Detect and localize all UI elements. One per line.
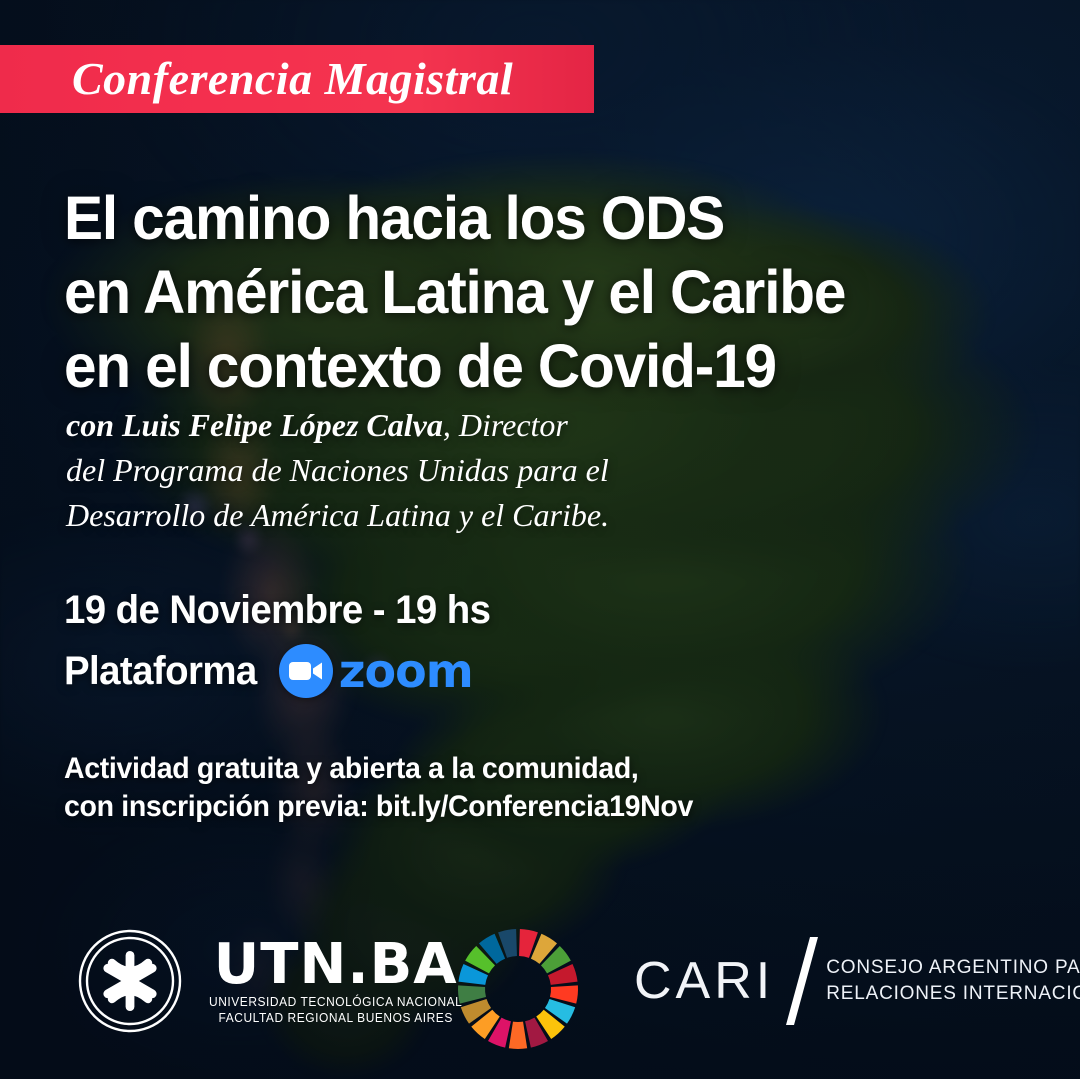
cari-subtitle-line-1: CONSEJO ARGENTINO PARA LAS: [826, 955, 1080, 981]
sdg-segment: [509, 1022, 527, 1049]
sdg-color-wheel-icon: [456, 927, 580, 1051]
platform-row: Plataforma zoom: [64, 644, 473, 698]
poster-content: Conferencia Magistral El camino hacia lo…: [0, 0, 1080, 1079]
video-camera-icon: [289, 660, 323, 682]
cari-subtitle: CONSEJO ARGENTINO PARA LAS RELACIONES IN…: [826, 955, 1080, 1007]
speaker-block: con Luis Felipe López Calva, Director de…: [66, 403, 806, 538]
speaker-line-3: Desarrollo de América Latina y el Caribe…: [66, 493, 806, 538]
note-line-2: con inscripción previa: bit.ly/Conferenc…: [64, 788, 693, 826]
speaker-name: con Luis Felipe López Calva: [66, 407, 443, 443]
zoom-badge: [279, 644, 333, 698]
title-line-1: El camino hacia los ODS: [64, 181, 986, 255]
conference-banner: Conferencia Magistral: [0, 45, 594, 113]
banner-label: Conferencia Magistral: [72, 56, 513, 102]
title-line-3: en el contexto de Covid-19: [64, 329, 986, 403]
speaker-line-1: con Luis Felipe López Calva, Director: [66, 403, 806, 448]
utn-asterisk-emblem-icon: [78, 929, 182, 1033]
zoom-wordmark: zoom: [339, 648, 473, 694]
cari-wordmark: CARI: [634, 953, 774, 1009]
cari-logo: CARI CONSEJO ARGENTINO PARA LAS RELACION…: [634, 935, 1080, 1027]
utn-subtitle-line-2: FACULTAD REGIONAL BUENOS AIRES: [209, 1010, 462, 1026]
note-line-1: Actividad gratuita y abierta a la comuni…: [64, 750, 693, 788]
utn-type-block: UTN.BA UNIVERSIDAD TECNOLÓGICA NACIONAL …: [198, 936, 473, 1026]
cari-slash-icon: [784, 935, 818, 1027]
utn-subtitle: UNIVERSIDAD TECNOLÓGICA NACIONAL FACULTA…: [209, 994, 462, 1026]
platform-label: Plataforma: [64, 647, 257, 695]
registration-note: Actividad gratuita y abierta a la comuni…: [64, 750, 693, 826]
title-line-2: en América Latina y el Caribe: [64, 255, 986, 329]
cari-subtitle-line-2: RELACIONES INTERNACIONALES: [826, 981, 1080, 1007]
utn-subtitle-line-1: UNIVERSIDAD TECNOLÓGICA NACIONAL: [209, 994, 462, 1010]
utn-wordmark: UTN.BA: [214, 936, 458, 994]
event-poster: Conferencia Magistral El camino hacia lo…: [0, 0, 1080, 1079]
utn-logo: UTN.BA UNIVERSIDAD TECNOLÓGICA NACIONAL …: [78, 929, 473, 1033]
logo-row: UTN.BA UNIVERSIDAD TECNOLÓGICA NACIONAL …: [0, 921, 1080, 1051]
zoom-logo: zoom: [279, 644, 473, 698]
speaker-role-part: , Director: [443, 407, 568, 443]
page-title: El camino hacia los ODS en América Latin…: [64, 181, 986, 403]
event-date: 19 de Noviembre - 19 hs: [64, 586, 490, 634]
speaker-line-2: del Programa de Naciones Unidas para el: [66, 448, 806, 493]
